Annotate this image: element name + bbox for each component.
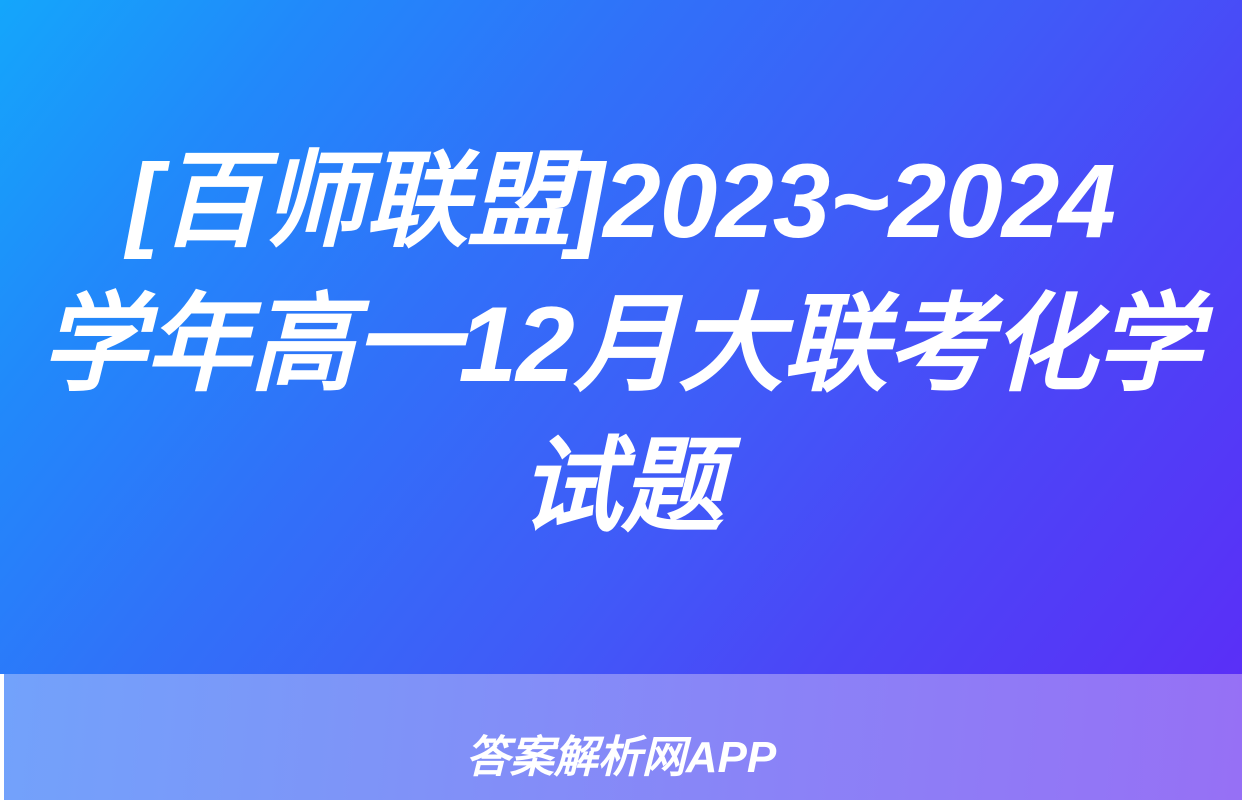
title-line-1: [百师联盟]2023~2024 <box>127 130 1115 273</box>
poster-canvas: [百师联盟]2023~2024 学年高一12月大联考化学 试题 答案解析网APP <box>0 0 1242 800</box>
title-block: [百师联盟]2023~2024 学年高一12月大联考化学 试题 <box>0 0 1242 674</box>
title-line-3: 试题 <box>520 416 723 559</box>
watermark-label: 答案解析网APP <box>0 674 1242 800</box>
title-line-2: 学年高一12月大联考化学 <box>41 273 1200 416</box>
